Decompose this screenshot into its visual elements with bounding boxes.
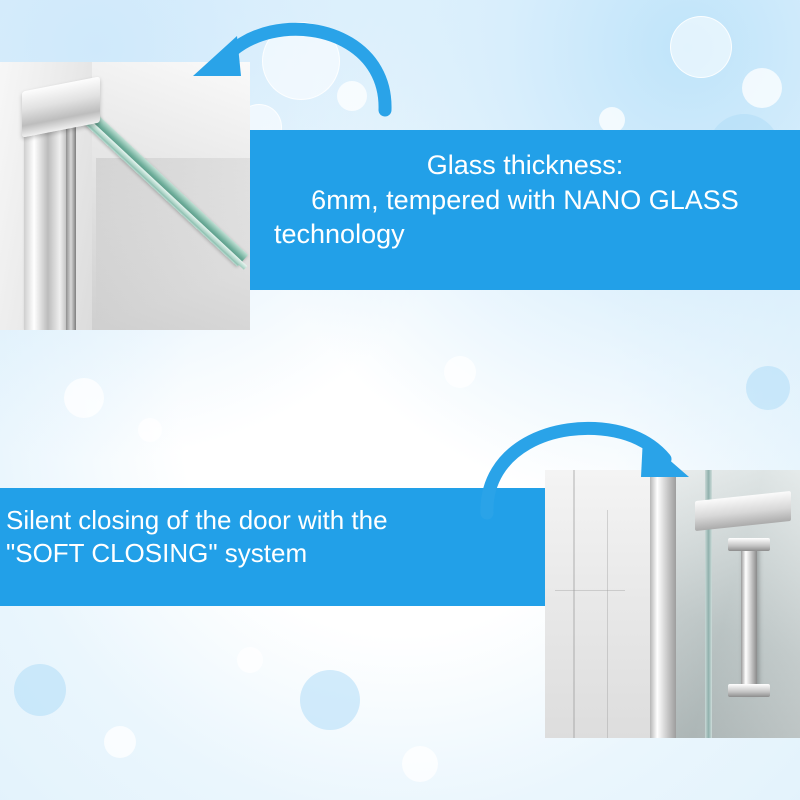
glass-thickness-line-1: Glass thickness: (274, 148, 776, 183)
soft-closing-line-1: Silent closing of the door with the (6, 504, 527, 537)
decorative-bubble (746, 366, 790, 410)
handle-mount-top (728, 538, 770, 551)
soft-closing-line-2: "SOFT CLOSING" system (6, 537, 527, 570)
handle-wall (545, 470, 650, 738)
glass-thickness-banner: Glass thickness: 6mm, tempered with NANO… (250, 130, 800, 290)
hinge-post-edge (66, 116, 76, 330)
glass-thickness-line-3: technology (274, 217, 776, 252)
wall-vein (555, 590, 625, 591)
decorative-bubble (402, 746, 438, 782)
decorative-bubble (138, 418, 162, 442)
hinge-photo (0, 62, 250, 330)
handle-photo (545, 470, 800, 738)
decorative-bubble (104, 726, 136, 758)
handle-mount-bottom (728, 684, 770, 697)
decorative-bubble (337, 81, 367, 111)
handle-bar (741, 544, 757, 694)
decorative-bubble (262, 22, 340, 100)
decorative-bubble (14, 664, 66, 716)
decorative-bubble (670, 16, 732, 78)
decorative-bubble (444, 356, 476, 388)
wall-vein (607, 510, 608, 738)
decorative-bubble (742, 68, 782, 108)
glass-thickness-line-2: 6mm, tempered with NANO GLASS (274, 183, 776, 218)
screenshot-root: Glass thickness: 6mm, tempered with NANO… (0, 0, 800, 800)
soft-closing-banner: Silent closing of the door with the "SOF… (0, 488, 545, 606)
decorative-bubble (300, 670, 360, 730)
handle-profile (650, 470, 676, 738)
hinge-post (24, 120, 70, 330)
decorative-bubble (64, 378, 104, 418)
decorative-bubble (237, 647, 263, 673)
wall-vein (573, 470, 575, 738)
